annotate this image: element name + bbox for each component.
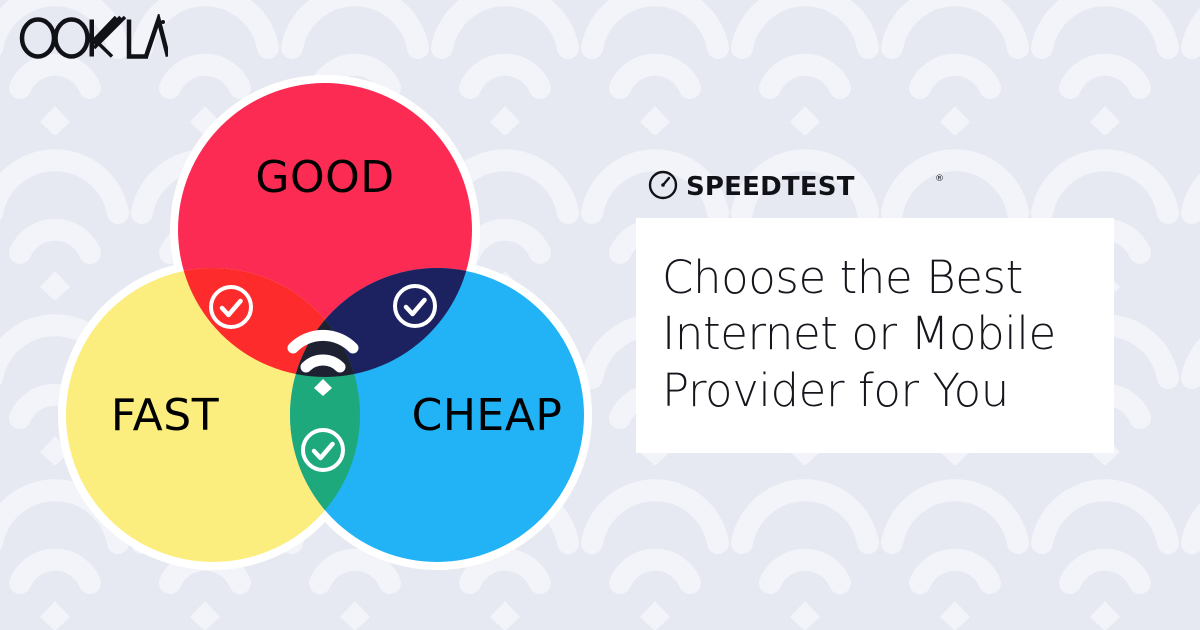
page-title: Choose the Best Internet or Mobile Provi… <box>662 250 1088 419</box>
promo-banner: GOOD FAST CHEAP <box>0 0 1200 630</box>
venn-label-good: GOOD <box>255 152 394 203</box>
speedtest-logo[interactable]: SPEEDTEST ® <box>648 168 948 202</box>
venn-label-cheap: CHEAP <box>412 390 563 441</box>
speedtest-trademark: ® <box>935 174 944 184</box>
speedometer-icon <box>650 172 676 198</box>
venn-diagram: GOOD FAST CHEAP <box>40 55 620 595</box>
right-panel: SPEEDTEST ® Choose the Best Internet or … <box>636 168 1126 453</box>
speedtest-wordmark: SPEEDTEST <box>686 172 855 202</box>
ookla-trademark-mark <box>161 20 165 24</box>
venn-label-fast: FAST <box>111 390 219 441</box>
headline-card: Choose the Best Internet or Mobile Provi… <box>636 218 1114 453</box>
